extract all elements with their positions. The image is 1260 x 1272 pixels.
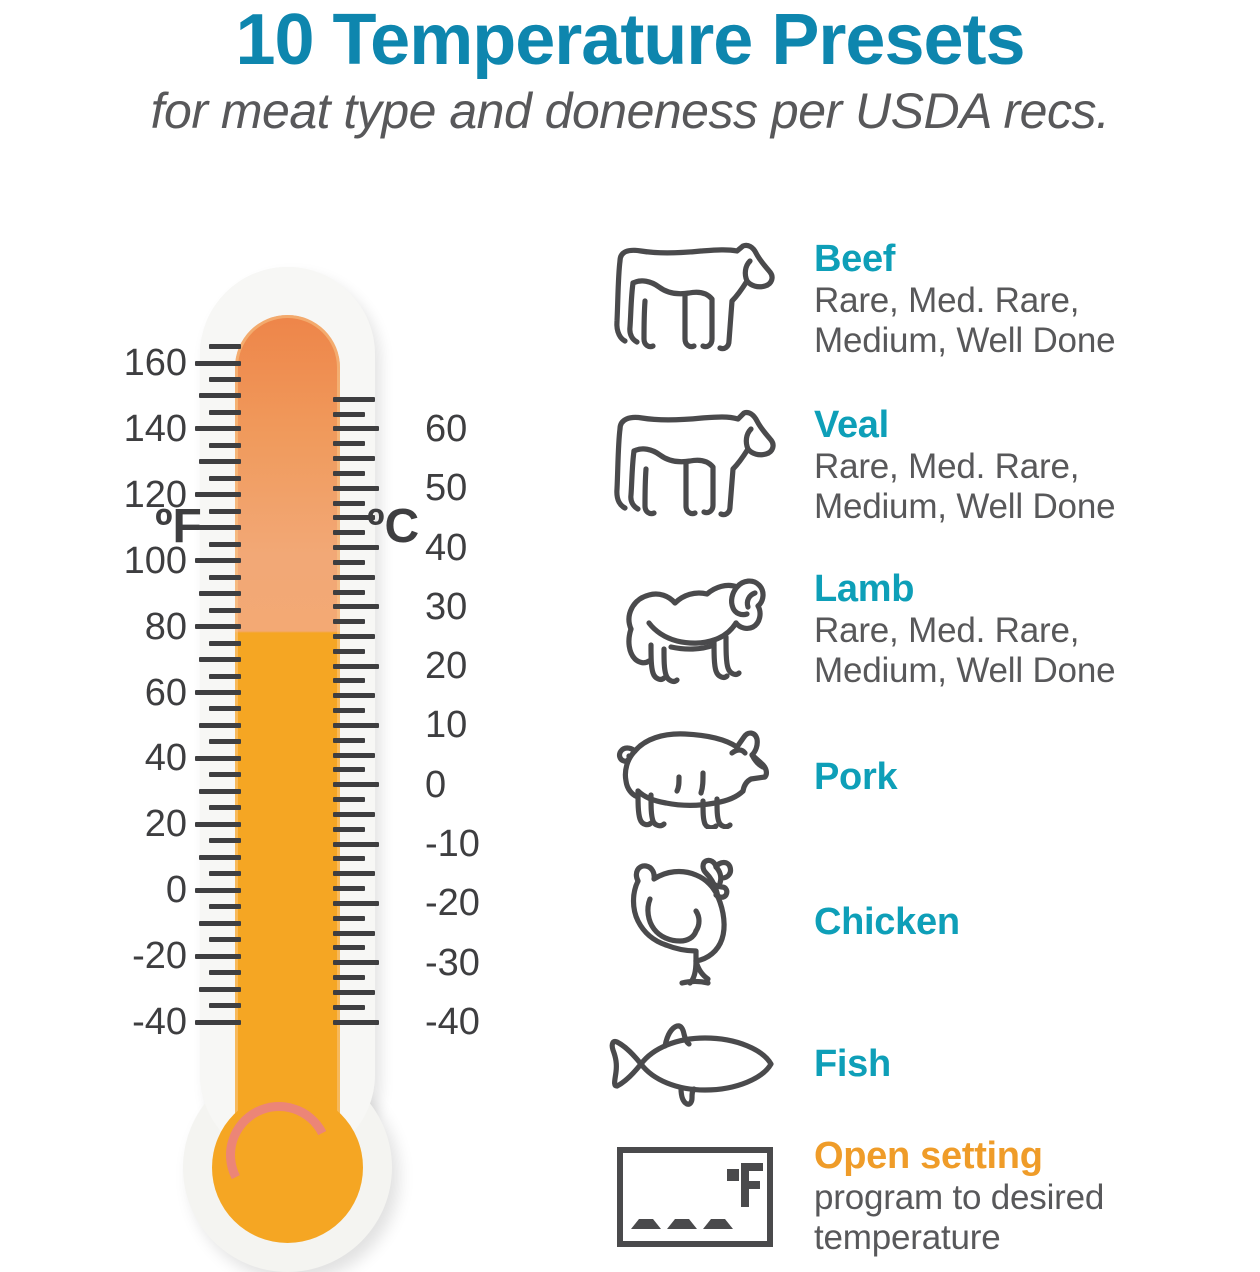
celsius-tick-label: -40 — [425, 1003, 525, 1041]
fahrenheit-minor-tick — [209, 641, 241, 646]
preset-text-block: Fish — [790, 1043, 1260, 1086]
preset-text-block: BeefRare, Med. Rare, Medium, Well Done — [790, 238, 1260, 362]
preset-row[interactable]: Pork — [600, 715, 1260, 839]
celsius-major-tick — [333, 426, 379, 431]
fahrenheit-minor-tick — [209, 575, 241, 580]
fahrenheit-minor-tick — [209, 674, 241, 679]
fahrenheit-mid-tick — [199, 459, 241, 464]
fahrenheit-tick-label: -20 — [95, 937, 187, 975]
fahrenheit-mid-tick — [199, 591, 241, 596]
fahrenheit-minor-tick — [209, 739, 241, 744]
preset-name: Pork — [814, 756, 1260, 799]
celsius-minor-tick — [333, 619, 365, 624]
page-title: 10 Temperature Presets — [0, 4, 1260, 77]
fahrenheit-tick-label: 100 — [95, 542, 187, 580]
celsius-major-tick — [333, 901, 379, 906]
celsius-minor-tick — [333, 530, 365, 535]
preset-row[interactable]: Chicken — [600, 860, 1260, 984]
fahrenheit-minor-tick — [209, 772, 241, 777]
celsius-mid-tick — [333, 871, 375, 876]
celsius-minor-tick — [333, 827, 365, 832]
pig-icon — [600, 725, 790, 829]
celsius-mid-tick — [333, 693, 375, 698]
celsius-tick-label: 60 — [425, 410, 525, 448]
celsius-mid-tick — [333, 753, 375, 758]
fahrenheit-minor-tick — [209, 344, 241, 349]
celsius-major-tick — [333, 545, 379, 550]
celsius-major-tick — [333, 486, 379, 491]
celsius-major-tick — [333, 664, 379, 669]
preset-description: Rare, Med. Rare, Medium, Well Done — [814, 281, 1260, 362]
preset-description: program to desired temperature — [814, 1178, 1260, 1259]
preset-text-block: LambRare, Med. Rare, Medium, Well Done — [790, 568, 1260, 692]
fahrenheit-mid-tick — [199, 987, 241, 992]
fahrenheit-tick-label: 40 — [95, 739, 187, 777]
celsius-mid-tick — [333, 575, 375, 580]
fahrenheit-mid-tick — [199, 723, 241, 728]
celsius-minor-tick — [333, 708, 365, 713]
preset-text-block: Chicken — [790, 901, 1260, 944]
fahrenheit-minor-tick — [209, 1003, 241, 1008]
celsius-minor-tick — [333, 797, 365, 802]
celsius-tick-label: 20 — [425, 647, 525, 685]
celsius-mid-tick — [333, 931, 375, 936]
fahrenheit-major-tick — [195, 822, 241, 827]
infographic-header: 10 Temperature Presets for meat type and… — [0, 0, 1260, 138]
fahrenheit-tick-label: 140 — [95, 410, 187, 448]
preset-name: Chicken — [814, 901, 1260, 944]
preset-row[interactable]: Open settingprogram to desired temperatu… — [600, 1135, 1260, 1259]
fahrenheit-mid-tick — [199, 657, 241, 662]
celsius-tick-label: -10 — [425, 825, 525, 863]
celsius-minor-tick — [333, 441, 365, 446]
celsius-major-tick — [333, 960, 379, 965]
fahrenheit-minor-tick — [209, 377, 241, 382]
fahrenheit-tick-label: 0 — [95, 871, 187, 909]
celsius-major-tick — [333, 1020, 379, 1025]
celsius-tick-label: -20 — [425, 884, 525, 922]
fahrenheit-mid-tick — [199, 525, 241, 530]
fahrenheit-mid-tick — [199, 855, 241, 860]
celsius-mid-tick — [333, 634, 375, 639]
celsius-mid-tick — [333, 990, 375, 995]
fahrenheit-major-tick — [195, 756, 241, 761]
preset-description: Rare, Med. Rare, Medium, Well Done — [814, 611, 1260, 692]
celsius-mid-tick — [333, 397, 375, 402]
thermometer-graphic: ºF ºC 160140120100806040200-20-406050403… — [95, 245, 565, 1250]
fahrenheit-tick-label: -40 — [95, 1003, 187, 1041]
thermometer-bulb — [212, 1092, 363, 1243]
fahrenheit-tick-label: 120 — [95, 476, 187, 514]
celsius-minor-tick — [333, 560, 365, 565]
fahrenheit-minor-tick — [209, 838, 241, 843]
preset-row[interactable]: BeefRare, Med. Rare, Medium, Well Done — [600, 238, 1260, 362]
page-subtitle: for meat type and doneness per USDA recs… — [0, 85, 1260, 138]
fahrenheit-minor-tick — [209, 410, 241, 415]
celsius-minor-tick — [333, 471, 365, 476]
preset-description: Rare, Med. Rare, Medium, Well Done — [814, 447, 1260, 528]
fahrenheit-mid-tick — [199, 921, 241, 926]
fahrenheit-minor-tick — [209, 509, 241, 514]
fahrenheit-minor-tick — [209, 443, 241, 448]
celsius-mid-tick — [333, 812, 375, 817]
celsius-minor-tick — [333, 916, 365, 921]
chicken-icon — [600, 853, 790, 991]
preset-name: Open setting — [814, 1135, 1260, 1178]
preset-row[interactable]: VealRare, Med. Rare, Medium, Well Done — [600, 404, 1260, 528]
celsius-tick-label: 50 — [425, 469, 525, 507]
fahrenheit-minor-tick — [209, 904, 241, 909]
fahrenheit-major-tick — [195, 1020, 241, 1025]
fahrenheit-tick-label: 80 — [95, 608, 187, 646]
sheep-icon — [600, 571, 790, 689]
celsius-minor-tick — [333, 975, 365, 980]
celsius-tick-label: 0 — [425, 766, 525, 804]
celsius-minor-tick — [333, 767, 365, 772]
fahrenheit-mid-tick — [199, 789, 241, 794]
fahrenheit-tick-label: 20 — [95, 805, 187, 843]
fahrenheit-major-tick — [195, 492, 241, 497]
fahrenheit-tick-label: 60 — [95, 674, 187, 712]
preset-text-block: VealRare, Med. Rare, Medium, Well Done — [790, 404, 1260, 528]
celsius-major-tick — [333, 604, 379, 609]
celsius-minor-tick — [333, 886, 365, 891]
celsius-tick-label: 40 — [425, 529, 525, 567]
preset-row[interactable]: Fish — [600, 1002, 1260, 1126]
fahrenheit-minor-tick — [209, 937, 241, 942]
display-screen-icon — [600, 1145, 790, 1249]
fahrenheit-major-tick — [195, 954, 241, 959]
fahrenheit-minor-tick — [209, 805, 241, 810]
fahrenheit-minor-tick — [209, 970, 241, 975]
celsius-major-tick — [333, 842, 379, 847]
celsius-minor-tick — [333, 678, 365, 683]
fahrenheit-mid-tick — [199, 393, 241, 398]
celsius-minor-tick — [333, 856, 365, 861]
preset-text-block: Pork — [790, 756, 1260, 799]
fahrenheit-major-tick — [195, 690, 241, 695]
celsius-minor-tick — [333, 412, 365, 417]
celsius-unit-label: ºC — [367, 503, 419, 551]
fahrenheit-minor-tick — [209, 706, 241, 711]
fahrenheit-tick-label: 160 — [95, 344, 187, 382]
cow-icon — [600, 241, 790, 359]
fahrenheit-major-tick — [195, 624, 241, 629]
celsius-minor-tick — [333, 1005, 365, 1010]
preset-name: Veal — [814, 404, 1260, 447]
celsius-mid-tick — [333, 515, 375, 520]
thermometer-mercury-column — [235, 315, 340, 1145]
fahrenheit-minor-tick — [209, 608, 241, 613]
celsius-minor-tick — [333, 590, 365, 595]
preset-text-block: Open settingprogram to desired temperatu… — [790, 1135, 1260, 1259]
preset-row[interactable]: LambRare, Med. Rare, Medium, Well Done — [600, 568, 1260, 692]
celsius-mid-tick — [333, 456, 375, 461]
fahrenheit-minor-tick — [209, 542, 241, 547]
preset-name: Lamb — [814, 568, 1260, 611]
celsius-tick-label: 30 — [425, 588, 525, 626]
fahrenheit-major-tick — [195, 361, 241, 366]
preset-name: Fish — [814, 1043, 1260, 1086]
celsius-tick-label: 10 — [425, 706, 525, 744]
celsius-major-tick — [333, 782, 379, 787]
fahrenheit-minor-tick — [209, 476, 241, 481]
celsius-minor-tick — [333, 501, 365, 506]
fahrenheit-major-tick — [195, 426, 241, 431]
celsius-tick-label: -30 — [425, 944, 525, 982]
preset-name: Beef — [814, 238, 1260, 281]
fahrenheit-minor-tick — [209, 871, 241, 876]
celsius-major-tick — [333, 723, 379, 728]
celsius-minor-tick — [333, 738, 365, 743]
fahrenheit-major-tick — [195, 888, 241, 893]
fish-icon — [600, 1020, 790, 1108]
celsius-minor-tick — [333, 945, 365, 950]
calf-icon — [600, 407, 790, 525]
celsius-minor-tick — [333, 649, 365, 654]
fahrenheit-major-tick — [195, 558, 241, 563]
